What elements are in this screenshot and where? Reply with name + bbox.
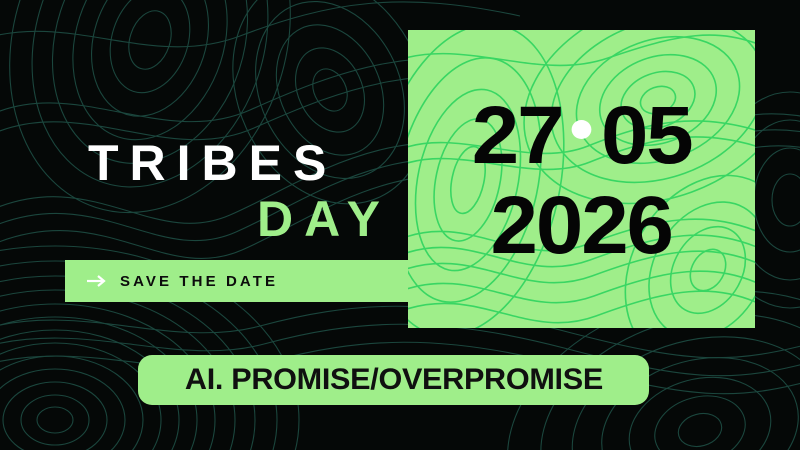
- event-wordmark: TRIBES DAY: [86, 138, 391, 244]
- topic-pill: AI. PROMISE/OVERPROMISE: [138, 355, 649, 405]
- date-year: 2026: [491, 187, 672, 265]
- date-day-month: 27 05: [472, 97, 692, 175]
- date-day: 27: [472, 97, 563, 175]
- wordmark-line-day: DAY: [86, 194, 391, 244]
- date-month: 05: [601, 97, 692, 175]
- event-poster: 27 05 2026 TRIBES DAY SAVE THE DATE AI. …: [0, 0, 800, 450]
- date-text-block: 27 05 2026: [408, 30, 755, 328]
- dot-separator-icon: [572, 120, 592, 139]
- save-the-date-label: SAVE THE DATE: [120, 273, 278, 290]
- arrow-right-icon: [86, 274, 106, 288]
- date-panel: 27 05 2026: [408, 30, 755, 328]
- wordmark-line-tribes: TRIBES: [86, 138, 391, 188]
- save-the-date-button[interactable]: SAVE THE DATE: [65, 260, 408, 302]
- topic-label: AI. PROMISE/OVERPROMISE: [184, 363, 602, 397]
